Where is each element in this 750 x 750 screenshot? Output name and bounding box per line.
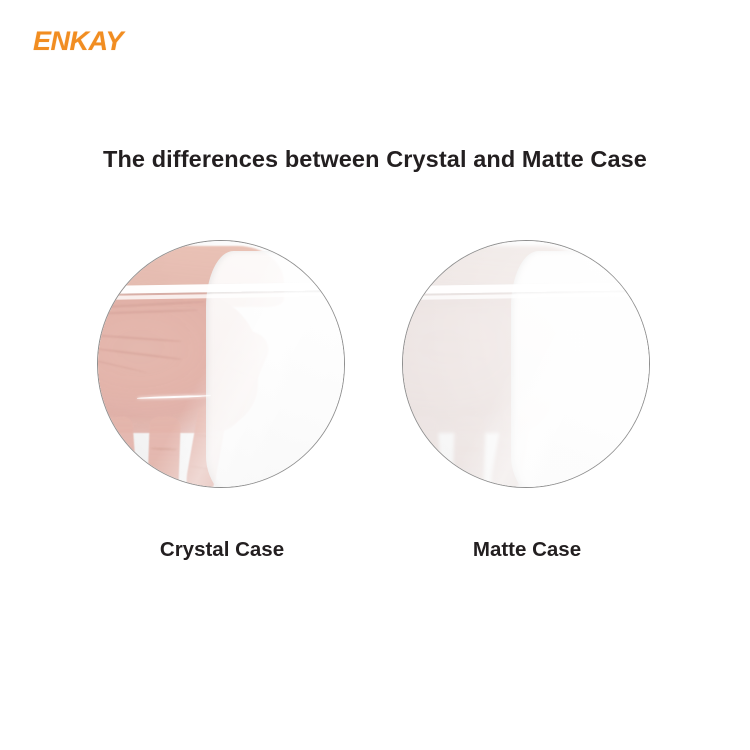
palm-crease <box>98 301 205 309</box>
palm-crease <box>403 334 487 343</box>
crystal-case-photo <box>97 240 345 488</box>
comparison-item-matte: Matte Case <box>402 240 654 488</box>
palm-crease <box>98 348 182 360</box>
palm-crease <box>98 310 197 315</box>
comparison-row: Crystal Case <box>0 240 750 580</box>
finger <box>146 416 180 487</box>
palm-crease <box>403 301 510 309</box>
matte-case-photo <box>402 240 650 488</box>
caption-matte-case: Matte Case <box>402 538 652 562</box>
page-title: The differences between Crystal and Matt… <box>0 146 750 173</box>
matte-scene <box>403 241 649 487</box>
crystal-scene <box>98 241 344 487</box>
palm-crease <box>98 334 182 343</box>
product-comparison-page: ENKAY The differences between Crystal an… <box>0 0 750 750</box>
palm-crease <box>403 356 452 374</box>
brand-logo: ENKAY <box>33 28 123 55</box>
comparison-item-crystal: Crystal Case <box>97 240 349 488</box>
finger <box>451 416 485 487</box>
caption-crystal-case: Crystal Case <box>97 538 347 562</box>
palm-crease <box>98 356 147 374</box>
palm-crease <box>403 348 487 360</box>
palm-crease <box>403 310 502 315</box>
